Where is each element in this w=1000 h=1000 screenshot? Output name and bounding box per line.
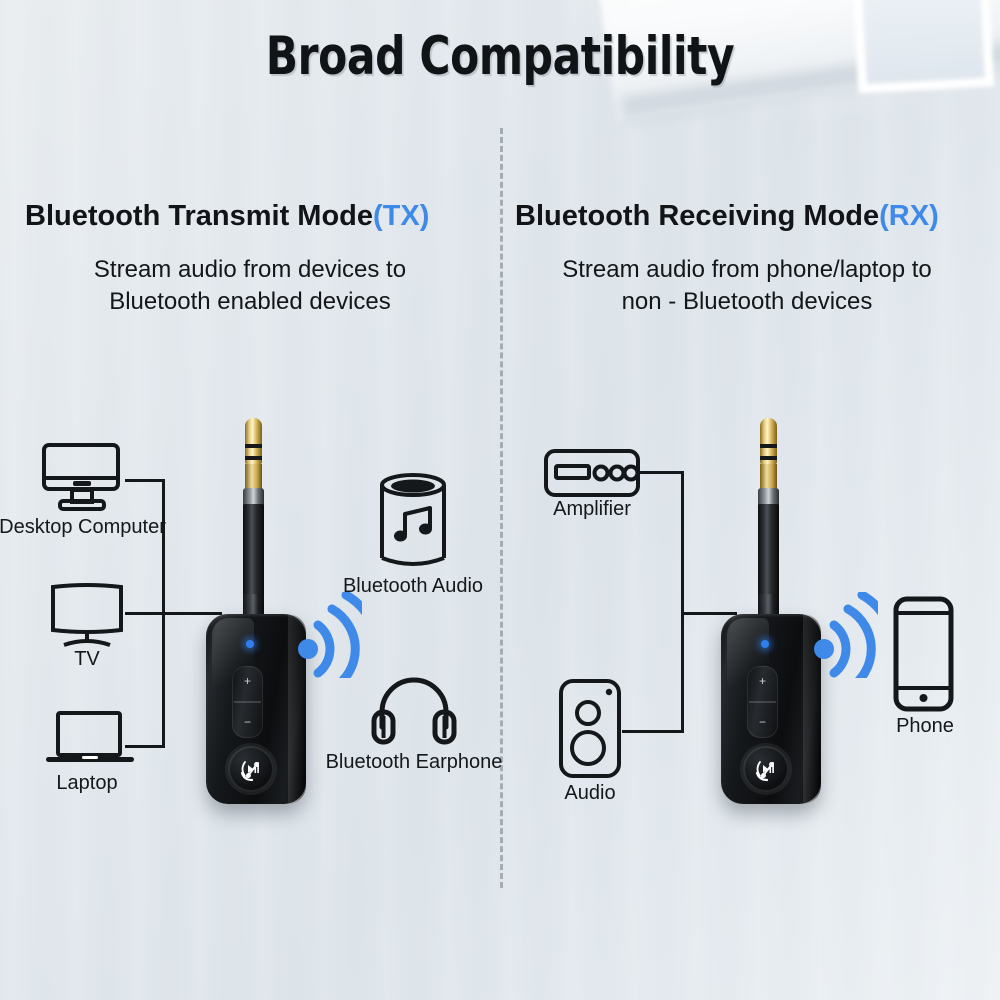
node-label-tv: TV <box>74 648 100 671</box>
rocker-divider <box>749 701 776 703</box>
node-label-desktop-computer: Desktop Computer <box>0 516 166 539</box>
node-label-audio: Audio <box>564 782 615 805</box>
speaker-box-icon <box>558 678 622 784</box>
rx-signal-waves <box>812 592 878 683</box>
wire-right-bus <box>681 471 684 733</box>
multifunction-play-pause-button[interactable] <box>228 746 274 792</box>
wire-audio <box>622 730 684 733</box>
tx-signal-waves <box>296 592 362 683</box>
wire-tv <box>125 612 165 615</box>
play-pause-power-icon <box>751 754 781 784</box>
volume-rocker-button[interactable]: + − <box>747 666 778 738</box>
volume-up-label: + <box>244 675 251 687</box>
tx-title-code: (TX) <box>373 200 429 232</box>
volume-down-label: − <box>244 716 251 728</box>
rocker-divider <box>234 701 261 703</box>
page-title: Broad Compatibility <box>100 26 900 87</box>
multifunction-play-pause-button[interactable] <box>743 746 789 792</box>
node-amplifier: Amplifier <box>543 448 641 528</box>
panel-divider <box>500 128 503 888</box>
rx-title-main: Bluetooth Receiving Mode <box>515 200 879 232</box>
node-label-bluetooth-earphone: Bluetooth Earphone <box>326 751 503 774</box>
play-pause-power-icon <box>236 754 266 784</box>
bluetooth-speaker-icon <box>372 472 454 574</box>
node-desktop-computer: Desktop Computer <box>40 442 125 537</box>
adapter-body: + − <box>721 614 821 804</box>
jack-shaft <box>245 464 262 490</box>
jack-band-1 <box>760 444 777 448</box>
node-label-laptop: Laptop <box>56 772 117 795</box>
volume-rocker-button[interactable]: + − <box>232 666 263 738</box>
jack-band-1 <box>245 444 262 448</box>
tx-panel-title: Bluetooth Transmit Mode(TX) <box>25 200 429 233</box>
node-laptop: Laptop <box>42 710 132 805</box>
node-audio: Audio <box>558 678 622 788</box>
tv-icon <box>48 578 126 648</box>
rx-title-code: (RX) <box>879 200 939 232</box>
node-bluetooth-earphone: Bluetooth Earphone <box>368 672 460 792</box>
node-label-phone: Phone <box>896 715 954 738</box>
node-label-amplifier: Amplifier <box>553 498 631 521</box>
status-led-indicator <box>246 640 254 648</box>
wire-desktop <box>125 479 165 482</box>
desktop-computer-icon <box>40 442 125 512</box>
tx-panel-subtitle: Stream audio from devices to Bluetooth e… <box>25 254 475 318</box>
node-tv: TV <box>48 578 126 673</box>
tx-title-main: Bluetooth Transmit Mode <box>25 200 373 232</box>
poster-canvas: Broad Compatibility Bluetooth Transmit M… <box>0 0 1000 1000</box>
jack-band-2 <box>760 456 777 460</box>
rx-panel-subtitle: Stream audio from phone/laptop to non - … <box>512 254 982 318</box>
jack-shaft <box>760 464 777 490</box>
volume-down-label: − <box>759 716 766 728</box>
amplifier-icon <box>543 448 641 498</box>
headphones-icon <box>368 672 460 746</box>
phone-icon <box>893 596 957 718</box>
volume-up-label: + <box>759 675 766 687</box>
status-led-indicator <box>761 640 769 648</box>
node-phone: Phone <box>893 596 957 736</box>
rx-panel-title: Bluetooth Receiving Mode(RX) <box>515 200 939 233</box>
wire-amplifier <box>640 471 684 474</box>
laptop-icon <box>42 710 138 772</box>
node-label-bluetooth-audio: Bluetooth Audio <box>343 575 483 598</box>
node-bluetooth-audio: Bluetooth Audio <box>372 472 454 592</box>
bluetooth-signal-waves-icon <box>812 592 878 678</box>
jack-band-2 <box>245 456 262 460</box>
adapter-body: + − <box>206 614 306 804</box>
bluetooth-signal-waves-icon <box>296 592 362 678</box>
